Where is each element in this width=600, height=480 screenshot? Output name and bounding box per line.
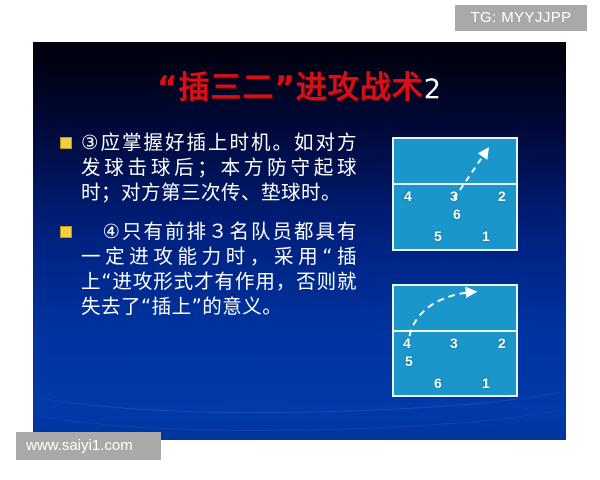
slide-title: “插三二”进攻战术2 (33, 62, 566, 107)
volleyball-court-diagram-top: 4 3 2 6 5 1 (392, 137, 518, 251)
bullet-item-text: ④只有前排３名队员都具有一定进攻能力时，采用“插上“进攻形式才有作用，否则就失去… (81, 219, 357, 319)
court-position-label: 3 (450, 189, 458, 203)
attack-line (394, 183, 516, 185)
site-watermark: www.saiyi1.com (16, 432, 161, 460)
court-position-label: 3 (450, 336, 458, 350)
court-position-label: 6 (434, 376, 442, 390)
square-bullet-icon (60, 137, 72, 149)
court-position-label: 4 (404, 189, 412, 203)
bullet-item: ④只有前排３名队员都具有一定进攻能力时，采用“插上“进攻形式才有作用，否则就失去… (57, 219, 357, 319)
court-position-label: 2 (498, 189, 506, 203)
court-position-label: 2 (498, 336, 506, 350)
volleyball-court-diagram-bottom: 4 3 2 5 6 1 (392, 284, 518, 397)
square-bullet-icon (60, 226, 72, 238)
bullet-item: ③应掌握好插上时机。如对方发球击球后；本方防守起球时；对方第三次传、垫球时。 (57, 130, 357, 205)
court-position-label: 1 (482, 229, 490, 243)
court-position-label: 1 (482, 376, 490, 390)
tg-watermark: TG: MYYJJPP (455, 5, 587, 31)
court-position-label: 6 (453, 207, 461, 221)
slide-title-suffix: 2 (424, 74, 442, 105)
slide-title-main: “插三二”进攻战术 (157, 70, 424, 106)
bullet-item-text: ③应掌握好插上时机。如对方发球击球后；本方防守起球时；对方第三次传、垫球时。 (81, 130, 357, 205)
slide-body-text-column: ③应掌握好插上时机。如对方发球击球后；本方防守起球时；对方第三次传、垫球时。 ④… (57, 130, 357, 333)
court-position-label: 4 (403, 336, 411, 350)
court-position-label: 5 (405, 354, 413, 368)
attack-line (394, 330, 516, 332)
court-position-label: 5 (434, 229, 442, 243)
presentation-slide: “插三二”进攻战术2 ③应掌握好插上时机。如对方发球击球后；本方防守起球时；对方… (33, 42, 566, 440)
